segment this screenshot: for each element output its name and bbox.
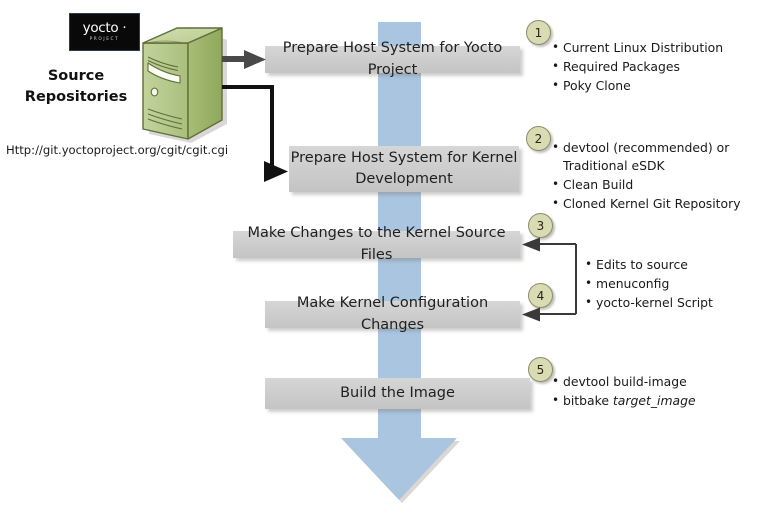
note-item: Poky Clone (563, 77, 765, 95)
step-box-prepare-host-kernel[interactable]: Prepare Host System for Kernel Developme… (289, 146, 519, 192)
note-item: menuconfig (596, 275, 763, 293)
step-number-badge-3: 3 (528, 213, 553, 238)
note-item: Current Linux Distribution (563, 39, 765, 57)
step-number-badge-1: 1 (526, 20, 551, 45)
notes-step2: devtool (recommended) or Traditional eSD… (550, 139, 765, 214)
step-box-build-the-image[interactable]: Build the Image (265, 378, 530, 409)
flow-arrow-head-icon (341, 438, 457, 500)
step-box-prepare-host-yocto[interactable]: Prepare Host System for Yocto Project (265, 46, 520, 73)
note-item: yocto-kernel Script (596, 294, 763, 312)
source-repository-url: Http://git.yoctoproject.org/cgit/cgit.cg… (6, 143, 228, 157)
connector-server-to-step1 (222, 50, 266, 69)
note-item: Required Packages (563, 58, 765, 76)
server-tower-icon (136, 21, 228, 143)
step-box-make-kernel-config-changes[interactable]: Make Kernel Configuration Changes (265, 301, 520, 328)
yocto-logo-word: yocto · (83, 22, 127, 36)
note-item: devtool (recommended) or Traditional eSD… (563, 139, 765, 175)
notes-step1: Current Linux Distribution Required Pack… (550, 39, 765, 96)
note-item: devtool build-image (563, 373, 765, 391)
note-item: Cloned Kernel Git Repository (563, 195, 765, 213)
notes-step3-step4: Edits to source menuconfig yocto-kernel … (583, 256, 763, 313)
note-item-emphasis: target_image (613, 393, 696, 408)
note-item-prefix: bitbake (563, 393, 613, 408)
step-box-make-kernel-source-changes[interactable]: Make Changes to the Kernel Source Files (233, 231, 520, 258)
step-number-badge-2: 2 (526, 126, 551, 151)
yocto-logo-subtitle: PROJECT (90, 38, 120, 42)
connector-server-to-step2 (222, 87, 288, 182)
step-number-badge-4: 4 (528, 283, 553, 308)
source-repositories-label-line1: Source (18, 66, 134, 87)
note-item: Clean Build (563, 176, 765, 194)
kernel-development-flow-diagram: yocto · PROJECT Source Repositories Http… (0, 0, 769, 517)
source-repositories-label: Source Repositories (18, 66, 134, 108)
connector-notes-to-step3-step4 (522, 238, 576, 322)
note-item: Edits to source (596, 256, 763, 274)
source-repositories-label-line2: Repositories (18, 87, 134, 108)
note-item: bitbake target_image (563, 392, 765, 410)
yocto-project-logo: yocto · PROJECT (69, 13, 140, 51)
notes-step5: devtool build-image bitbake target_image (550, 373, 765, 411)
